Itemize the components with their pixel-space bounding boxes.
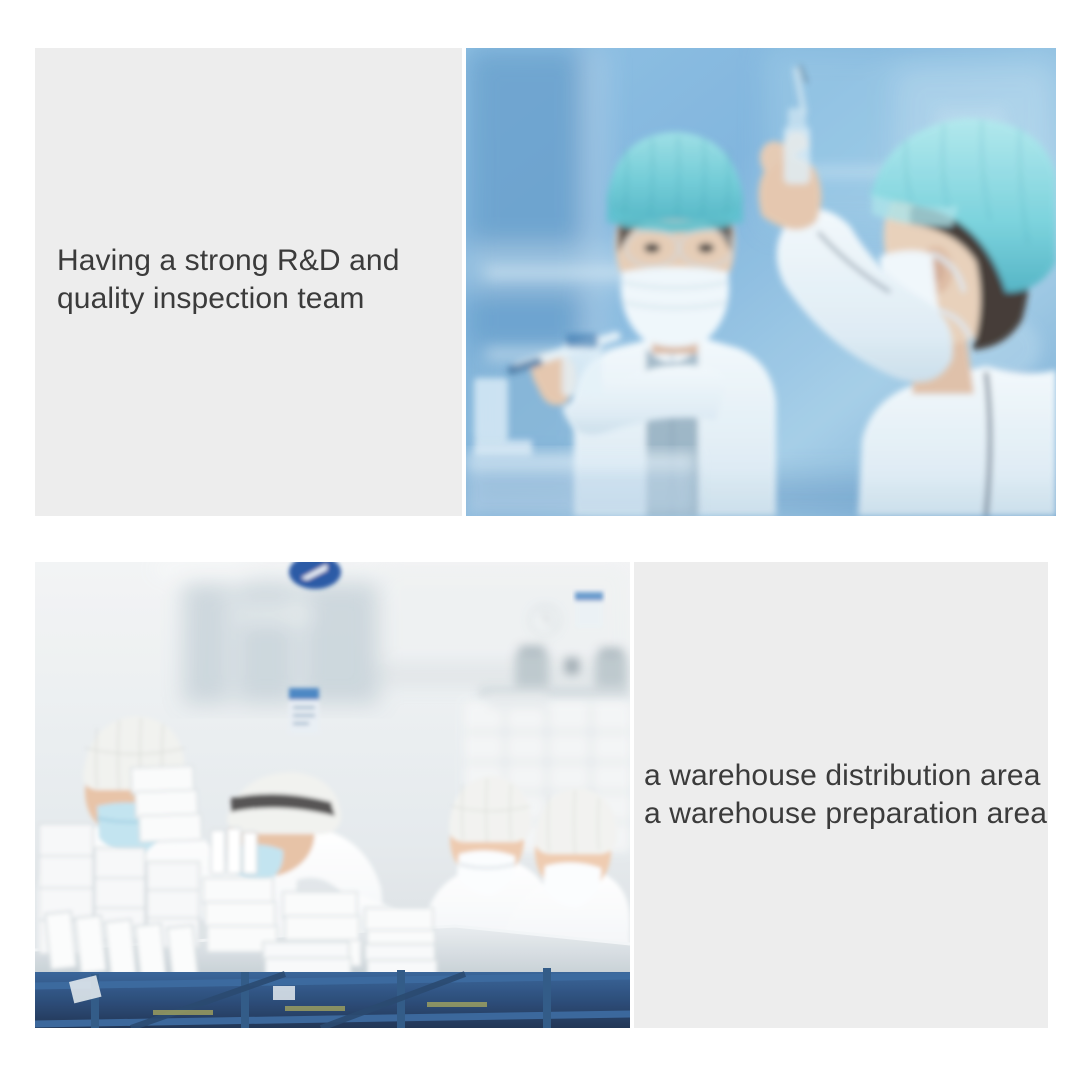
caption-panel-warehouse: a warehouse distribution area a warehous…: [634, 562, 1048, 1028]
caption-rd-quality: Having a strong R&D and quality inspecti…: [35, 242, 399, 323]
section-warehouse: a warehouse distribution area a warehous…: [35, 562, 1048, 1028]
warehouse-photo-art: [35, 562, 630, 1028]
lab-quality-inspection-photo: [466, 48, 1056, 516]
warehouse-packing-photo: [35, 562, 630, 1028]
caption-panel-rd-quality: Having a strong R&D and quality inspecti…: [35, 48, 462, 516]
caption-warehouse: a warehouse distribution area a warehous…: [634, 757, 1047, 834]
section-rd-quality: Having a strong R&D and quality inspecti…: [35, 48, 1056, 516]
lab-photo-art: [466, 48, 1056, 516]
poster-canvas: Having a strong R&D and quality inspecti…: [0, 0, 1080, 1080]
